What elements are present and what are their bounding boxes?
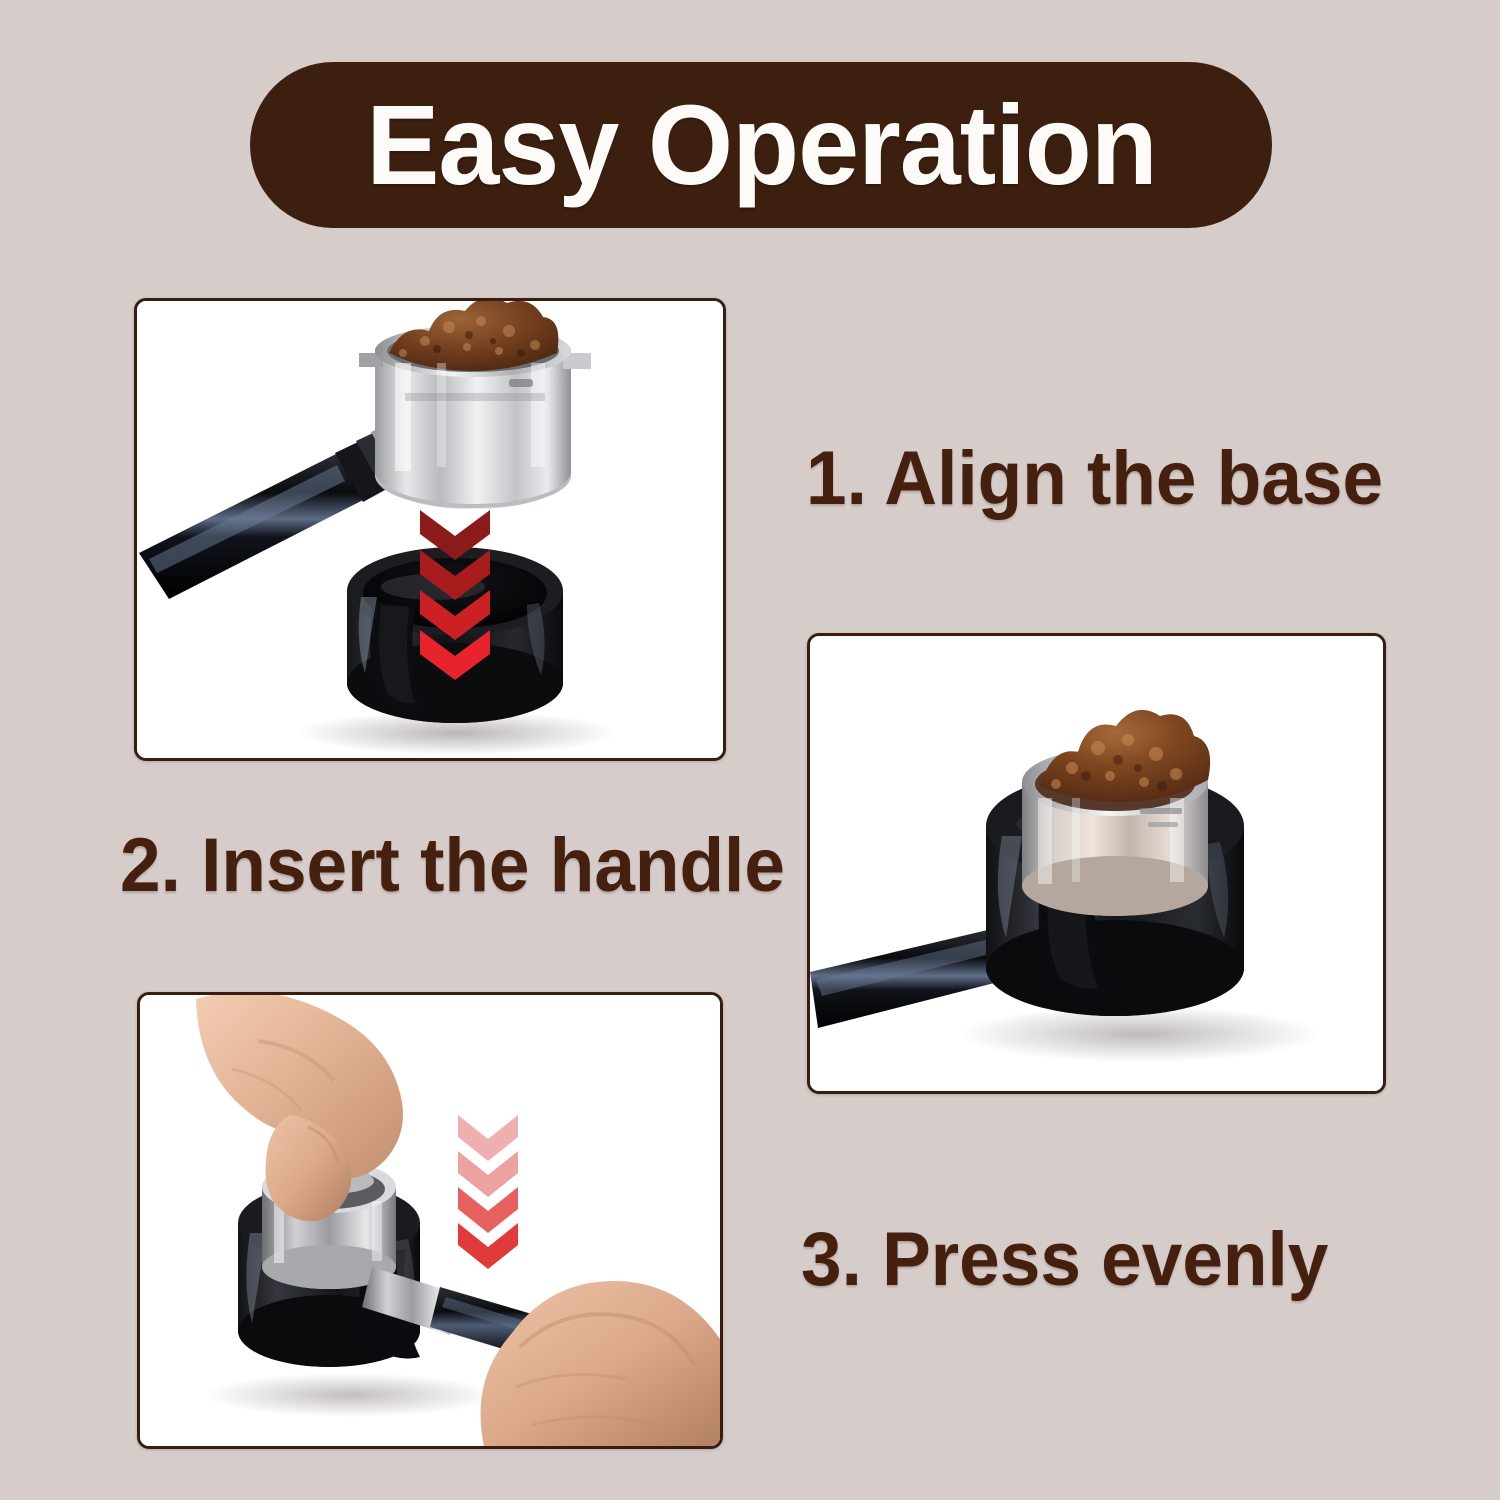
illustration-align-base [137,301,723,758]
photo-panel-press-evenly [137,992,723,1449]
photo-panel-insert-handle [807,633,1386,1094]
illustration-press-evenly [140,995,720,1446]
step-label-2: 2. Insert the handle [120,828,785,904]
page-title: Easy Operation [366,89,1157,202]
step-label-3: 3. Press evenly [801,1222,1328,1298]
photo-panel-align-base [134,298,726,761]
step-label-1: 1. Align the base [806,441,1383,517]
illustration-insert-handle [810,636,1383,1091]
title-banner: Easy Operation [250,62,1272,228]
